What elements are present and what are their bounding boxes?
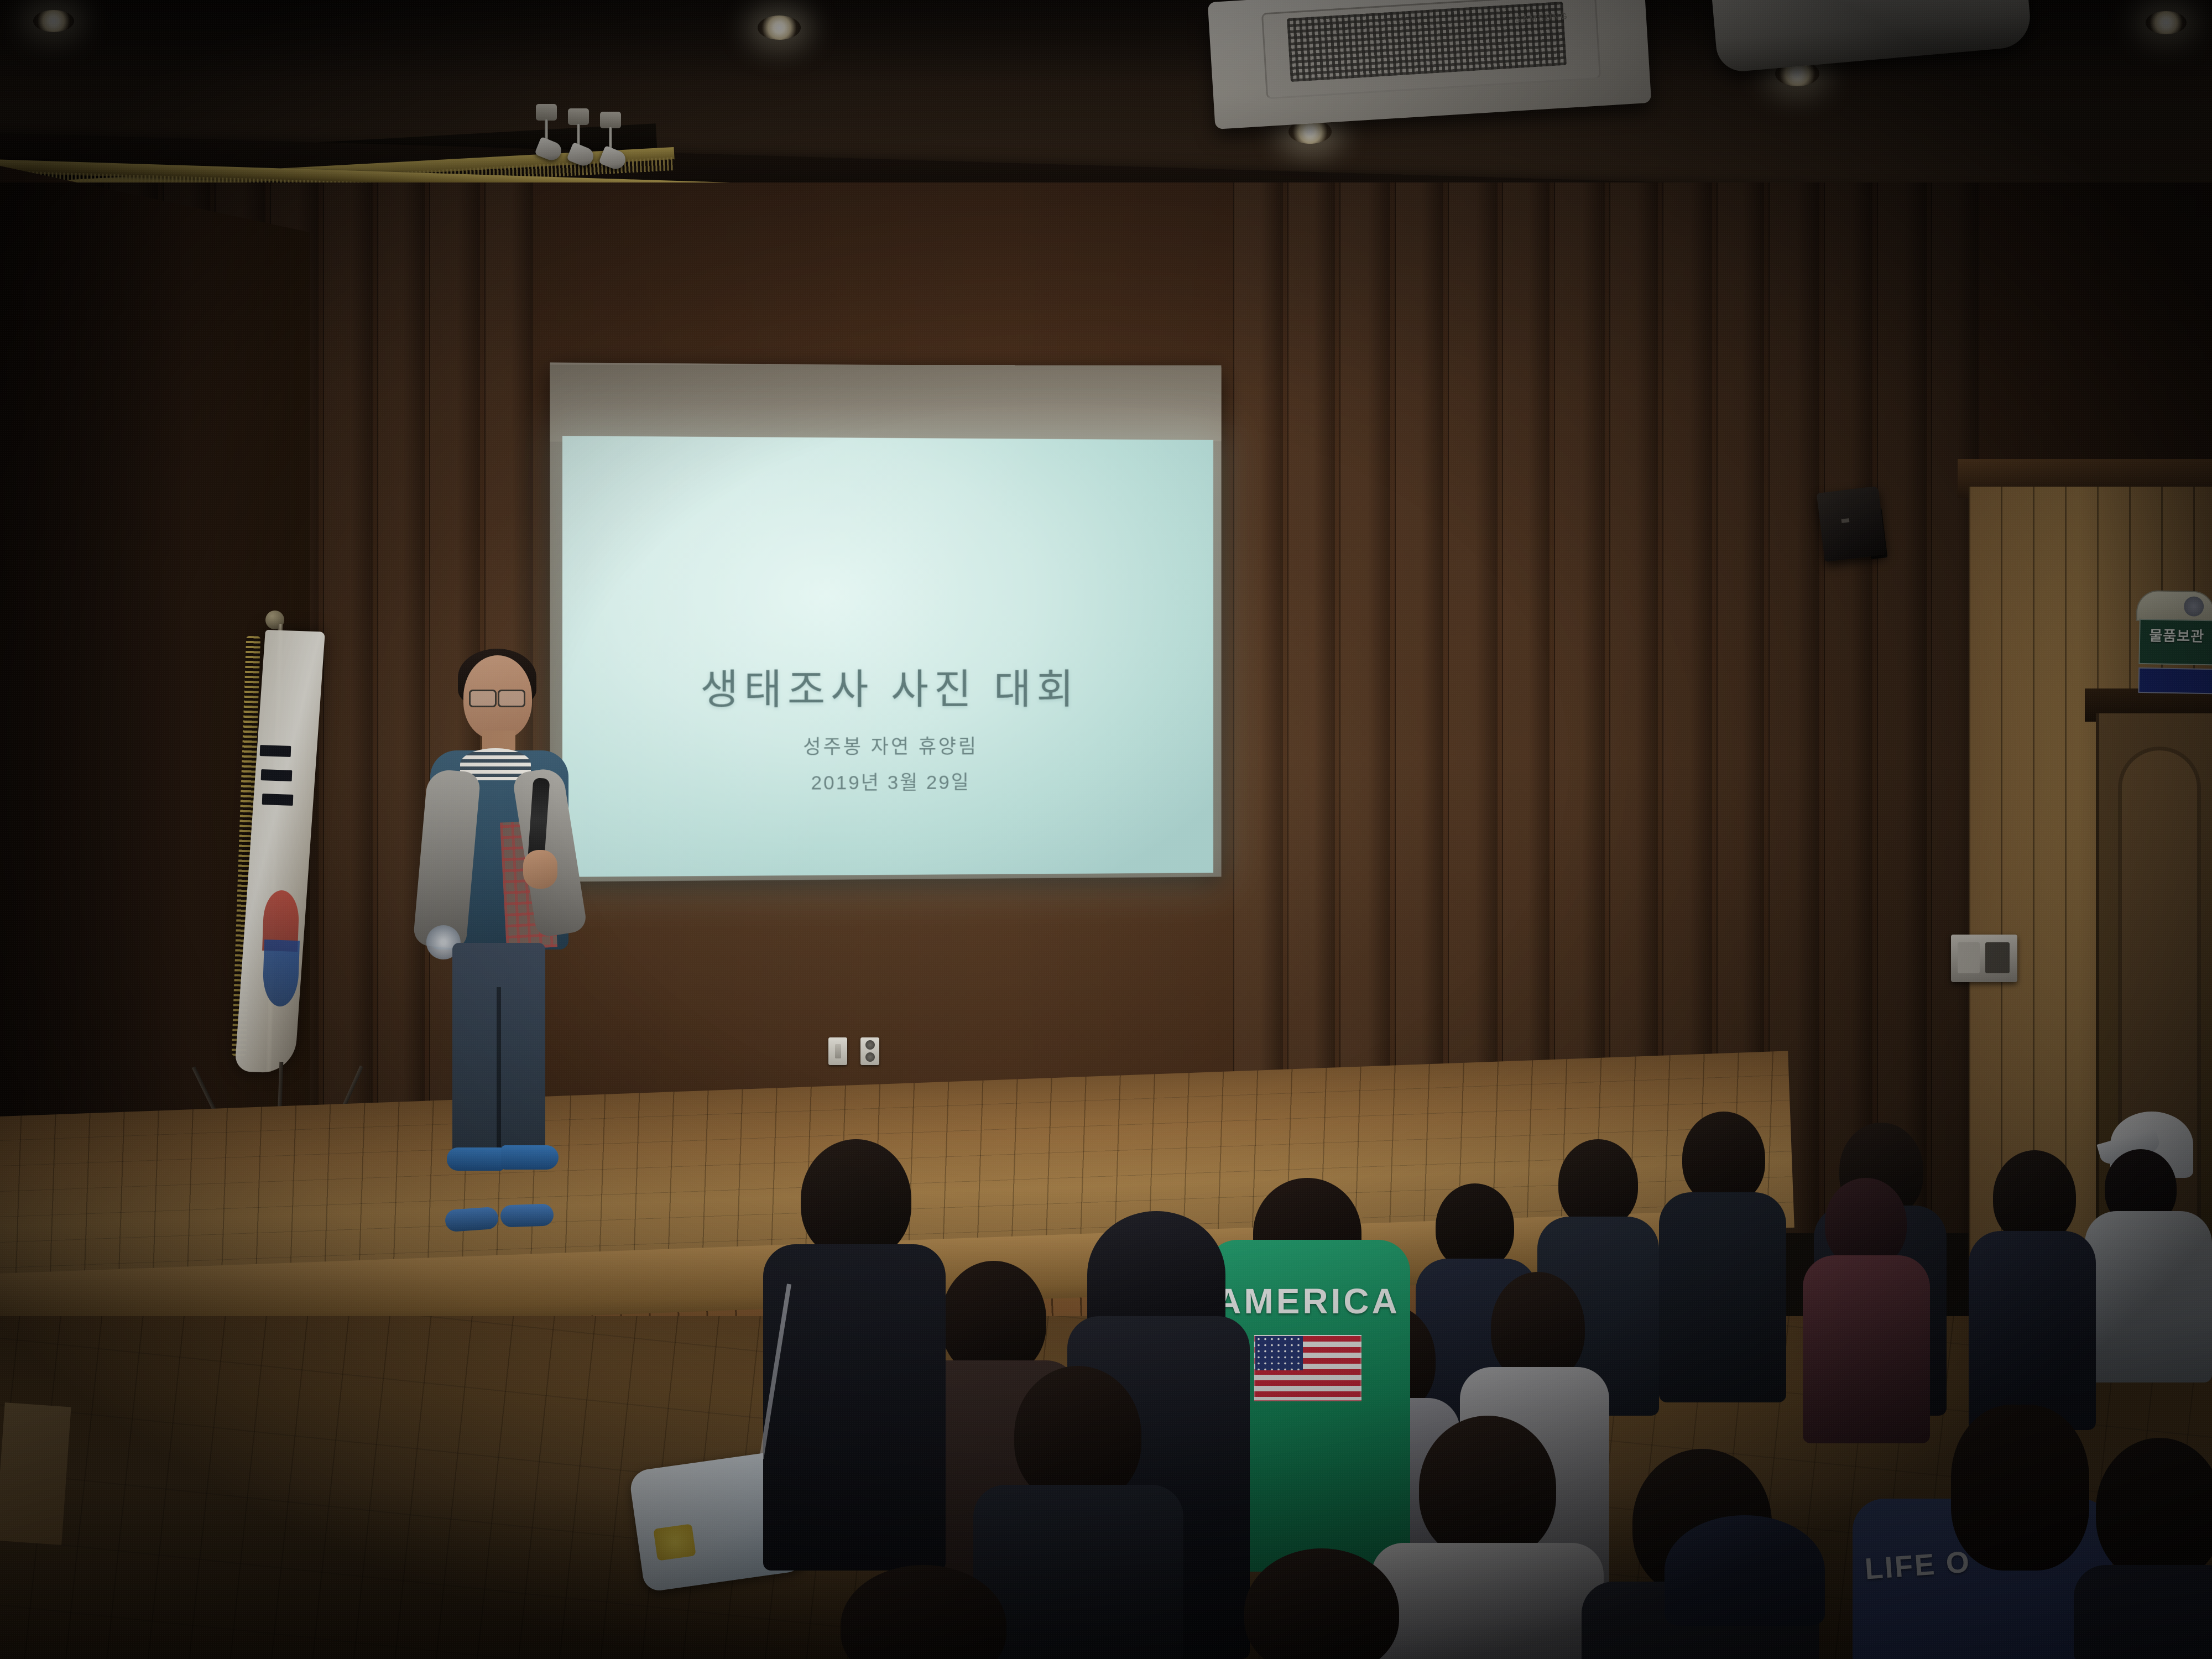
- flag-trigram-3: [262, 794, 294, 806]
- projection-screen-roller: [550, 364, 1222, 441]
- projection-screen: 생태조사 사진 대회 성주봉 자연 휴양림 2019년 3월 29일: [562, 436, 1213, 877]
- audience-member-hoodie-maroon: [1803, 1178, 1930, 1438]
- head: [1682, 1112, 1765, 1204]
- torso-maroon-hoodie: [1803, 1255, 1930, 1443]
- presenter: [420, 655, 586, 1253]
- slide-subtitle: 성주봉 자연 휴양림: [803, 731, 978, 759]
- storage-sign: 물품보관: [2135, 590, 2212, 696]
- glasses-left-lens-icon: [469, 690, 497, 707]
- auditorium-scene: SAMSUNG: [0, 0, 2212, 1659]
- head: [1436, 1183, 1514, 1270]
- glasses-right-lens-icon: [498, 690, 525, 707]
- head: [1419, 1416, 1556, 1561]
- spot-light-cluster-left: [534, 104, 644, 192]
- head: [1558, 1139, 1638, 1228]
- wall-speaker: [1817, 486, 1886, 562]
- presenter-leg-gap: [497, 987, 501, 1159]
- slide-title: 생태조사 사진 대회: [701, 656, 1079, 716]
- cardboard-box: [0, 1402, 71, 1545]
- audience-member-back-1: [1969, 1150, 2096, 1427]
- sign-emblem-icon: [2184, 596, 2204, 617]
- sign-top-plate: [2136, 590, 2212, 622]
- sign-green-band: 물품보관: [2138, 619, 2212, 665]
- us-flag-icon: [1254, 1335, 1361, 1401]
- presenter-hand: [523, 850, 557, 889]
- head: [1491, 1272, 1585, 1383]
- head: [1825, 1178, 1907, 1267]
- presenter-shoe-left: [447, 1147, 504, 1171]
- torso-black-track-jacket: [763, 1244, 946, 1571]
- light-switch-rocker[interactable]: [835, 1044, 841, 1058]
- navy-cap: [1665, 1515, 1825, 1626]
- torso: [1969, 1231, 2096, 1430]
- panel-button-left[interactable]: [1958, 942, 1980, 973]
- audience-member-mid-4: [763, 1139, 946, 1571]
- head: [841, 1565, 1006, 1659]
- head: [1951, 1405, 2089, 1571]
- power-outlet-plate: [860, 1037, 879, 1065]
- cloth-logo-icon: [653, 1524, 696, 1561]
- torso: [1659, 1192, 1786, 1402]
- sign-blue-band: [2138, 667, 2212, 694]
- sign-text: 물품보관: [2140, 624, 2212, 646]
- torso-white-jacket: [2085, 1211, 2212, 1383]
- head: [801, 1139, 911, 1260]
- audience-member-back-3: [1659, 1112, 1786, 1399]
- downlight-1: [33, 10, 74, 32]
- slide-content: 생태조사 사진 대회 성주봉 자연 휴양림 2019년 3월 29일: [562, 436, 1213, 877]
- head: [2096, 1438, 2212, 1582]
- downlight-5: [2146, 11, 2187, 34]
- flag-trigram-2: [261, 769, 293, 781]
- torso: [2074, 1565, 2212, 1659]
- presenter-shoe-right: [501, 1145, 559, 1170]
- head: [1244, 1548, 1399, 1659]
- audience-member-front-4: [2074, 1438, 2212, 1659]
- audience-member-front-5: [1637, 1515, 1858, 1659]
- head: [941, 1261, 1046, 1377]
- audience-member-front-7: [818, 1565, 1040, 1659]
- panel-button-right[interactable]: [1985, 942, 2010, 973]
- us-flag-canton: [1255, 1336, 1303, 1370]
- flag-trigram-1: [260, 745, 291, 757]
- audience-member-white-cap: [2085, 1112, 2212, 1377]
- audience-member-front-6: [1206, 1548, 1438, 1659]
- downlight-2: [758, 15, 801, 40]
- head: [1993, 1150, 2076, 1243]
- head: [1014, 1366, 1141, 1504]
- slide-date: 2019년 3월 29일: [811, 766, 971, 795]
